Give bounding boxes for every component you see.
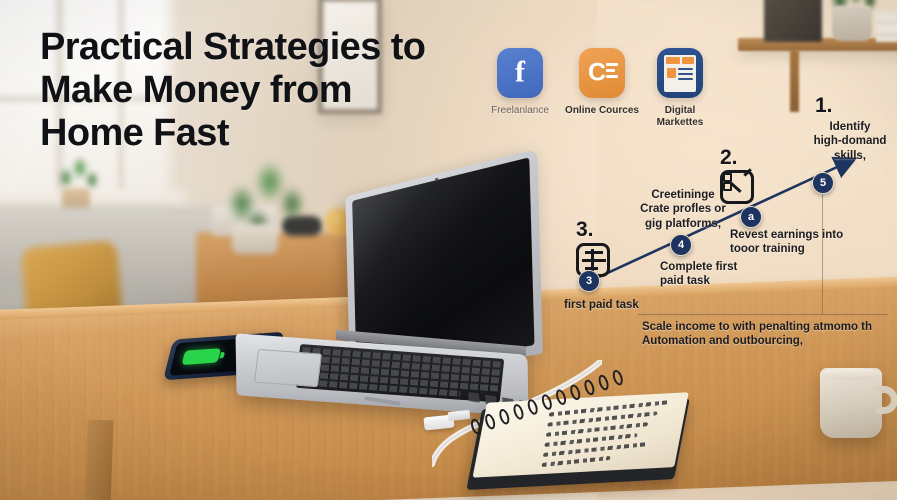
desk-leg (85, 420, 114, 500)
scale-income-line-2: Automation and outbourcing, (642, 334, 887, 348)
flow-node-a: a (740, 206, 762, 228)
reinvest-earnings-line-2: tooor training (730, 242, 870, 256)
freelance-icon: f (497, 48, 543, 98)
flow-node-4: 4 (670, 234, 692, 256)
headline-line-3: Home Fast (40, 112, 470, 155)
promo-graphic-scene: Practical Strategies to Make Money from … (0, 0, 897, 500)
reinvest-earnings-line-1: Revest earnings into (730, 228, 870, 242)
course-list-lines-icon (606, 63, 618, 81)
flow-divider-line (638, 314, 888, 315)
step-1-caption: Identify high-domand skills, (800, 120, 897, 163)
first-paid-task-caption: first paid task (564, 298, 674, 312)
scale-income-caption: Scale income to with penalting atmomo th… (642, 320, 887, 349)
reinvest-earnings-caption: Revest earnings into tooor training (730, 228, 870, 257)
create-profiles-line-2: Crate profles or (628, 202, 738, 216)
newspaper-header-block (666, 57, 680, 64)
newspaper-icon (664, 55, 696, 92)
complete-task-line-1: Complete first (660, 260, 770, 274)
newspaper-header-block (682, 57, 694, 64)
freelance-label: Freelanlance (478, 105, 562, 117)
network-pen-icon (743, 168, 751, 176)
step-1-caption-line-2: high-domand (800, 134, 897, 148)
battery-tip-icon (220, 352, 226, 358)
step-1-caption-line-3: skills, (800, 149, 897, 163)
create-profiles-line-3: gig platforms, (628, 217, 738, 231)
network-node-icon (723, 173, 732, 182)
document-line-icon (585, 251, 603, 254)
headline: Practical Strategies to Make Money from … (40, 26, 470, 155)
newspaper-text-line (678, 73, 693, 75)
laptop-trackpad (254, 349, 322, 387)
complete-task-caption: Complete first paid task (660, 260, 770, 289)
create-profiles-caption: Creetininge Crate profles or gig platfor… (628, 188, 738, 231)
mug-handle (876, 386, 897, 414)
flow-node-5: 5 (812, 172, 834, 194)
document-line-icon (582, 259, 606, 262)
newspaper-text-line (678, 68, 693, 70)
create-profiles-line-1: Creetininge (628, 188, 738, 202)
laptop-front-notch (364, 396, 400, 406)
coffee-mug (820, 368, 882, 438)
step-2-number: 2. (720, 146, 738, 170)
newspaper-image-block (667, 68, 676, 78)
step-3-number: 3. (576, 218, 594, 242)
course-c-glyph: C (588, 59, 606, 88)
scale-income-line-1: Scale income to with penalting atmomo th (642, 320, 887, 334)
flow-node-3: 3 (578, 270, 600, 292)
step-1-caption-line-1: Identify (800, 120, 897, 134)
headline-line-1: Practical Strategies to (40, 26, 470, 69)
battery-charging-icon (182, 348, 221, 365)
platform-freelance: f Freelanlance (478, 48, 562, 117)
newspaper-text-line (678, 78, 693, 80)
growth-flow-diagram: 1. Identify high-domand skills, 2. 3. 3 … (560, 88, 897, 373)
shelf-storage-box (764, 0, 822, 42)
shelf-books (876, 12, 897, 42)
step-1-number: 1. (815, 94, 833, 118)
spiral-notebook (472, 389, 687, 496)
facebook-f-glyph: f (515, 55, 525, 89)
complete-task-line-2: paid task (660, 274, 770, 288)
headline-line-2: Make Money from (40, 69, 470, 112)
shelf-plant-pot (832, 6, 872, 41)
